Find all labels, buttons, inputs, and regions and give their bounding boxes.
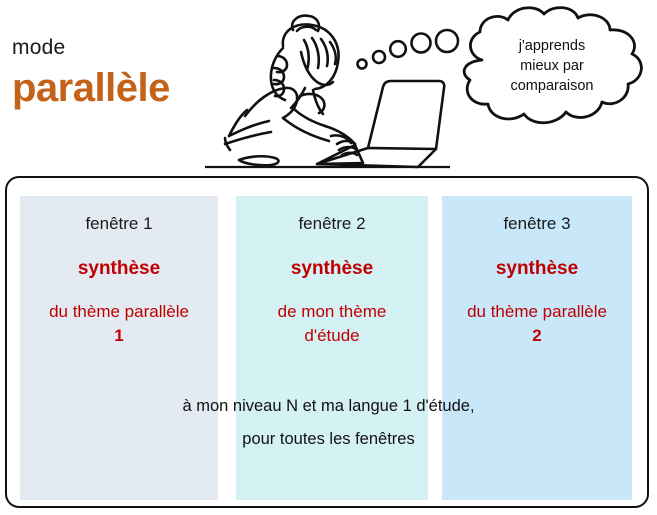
window-column-3[interactable]: fenêtre 3 synthèse du thème parallèle 2 [442,196,632,500]
thought-bubble-text: j'apprends mieux par comparaison [478,36,626,96]
mode-title: parallèle [12,66,170,111]
window-3-theme: du thème parallèle 2 [446,300,628,348]
window-3-theme-text: du thème parallèle [467,302,607,321]
window-2-synthese: synthèse [240,258,424,280]
header-area: mode parallèle [0,0,657,175]
bubble-line-1: j'apprends [478,36,626,56]
bubble-line-3: comparaison [478,76,626,96]
window-1-theme-text: du thème parallèle [49,302,189,321]
thought-trail-dots-icon [330,22,460,77]
window-column-1[interactable]: fenêtre 1 synthèse du thème parallèle 1 [20,196,218,500]
window-2-theme-text: de mon thème [278,302,387,321]
window-1-title: fenêtre 1 [24,214,214,234]
window-2-title: fenêtre 2 [240,214,424,234]
window-3-synthese: synthèse [446,258,628,280]
window-1-theme: du thème parallèle 1 [24,300,214,348]
window-column-2[interactable]: fenêtre 2 synthèse de mon thème d'étude [236,196,428,500]
window-1-theme-number: 1 [24,324,214,348]
mode-label: mode [12,36,65,60]
bubble-line-2: mieux par [478,56,626,76]
window-2-theme-number: d'étude [240,324,424,348]
window-3-theme-number: 2 [446,324,628,348]
window-2-theme: de mon thème d'étude [240,300,424,348]
window-1-synthese: synthèse [24,258,214,280]
window-3-title: fenêtre 3 [446,214,628,234]
